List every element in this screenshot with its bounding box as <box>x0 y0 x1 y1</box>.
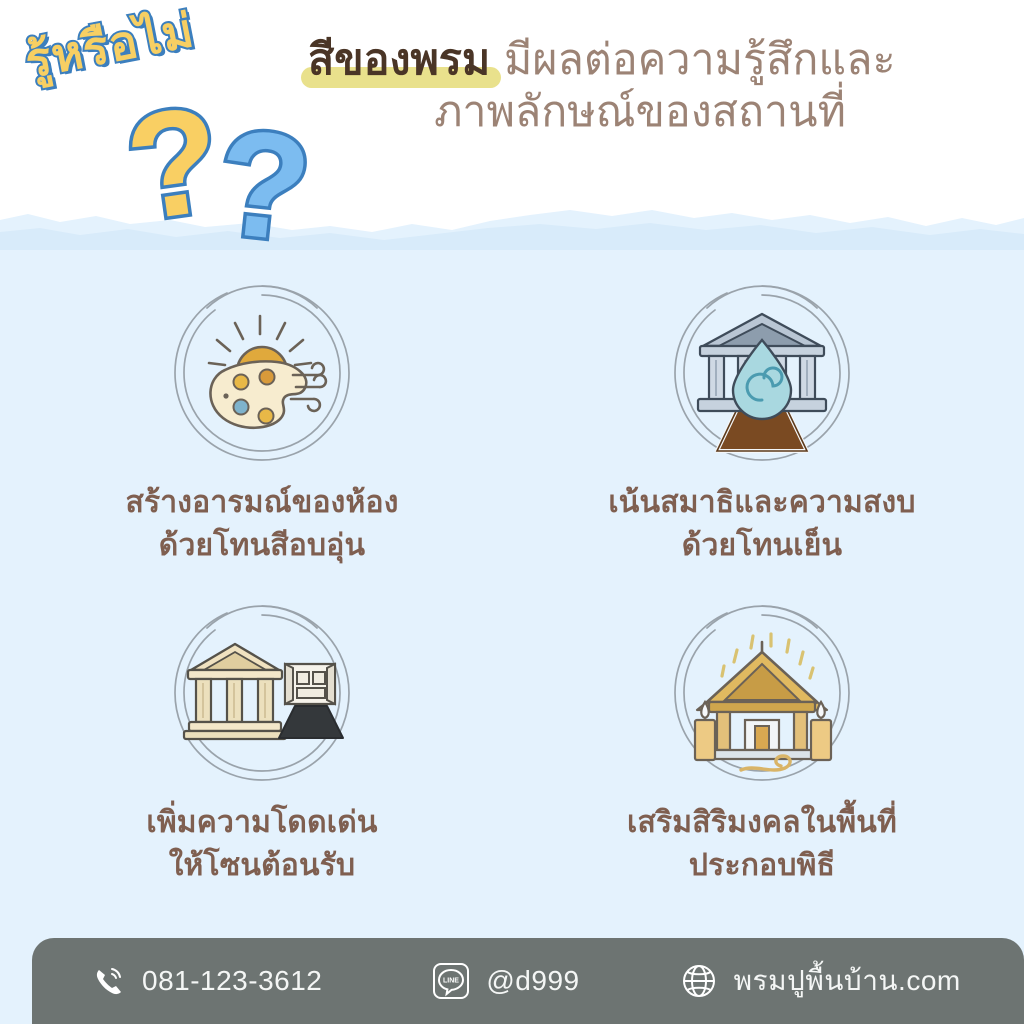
feature-card-1-caption: สร้างอารมณ์ของห้อง ด้วยโทนสีอบอุ่น <box>32 482 492 567</box>
headline-line-1-rest: มีผลต่อความรู้สึกและ <box>493 37 895 84</box>
headline-line-1: สีของพรม มีผลต่อความรู้สึกและ <box>300 34 1000 87</box>
feature-card-2-caption-line-2: ด้วยโทนเย็น <box>532 525 992 568</box>
headline-line-2-text: ภาพลักษณ์ของสถานที่ <box>434 89 846 136</box>
line-app-icon: LINE <box>432 962 470 1000</box>
feature-card-1-caption-line-1: สร้างอารมณ์ของห้อง <box>32 482 492 525</box>
globe-icon <box>680 962 718 1000</box>
did-you-know-badge: รู้หรือไม่ ? ? <box>18 10 308 250</box>
feature-card-1: สร้างอารมณ์ของห้อง ด้วยโทนสีอบอุ่น <box>32 278 492 567</box>
feature-card-1-caption-line-2: ด้วยโทนสีอบอุ่น <box>32 525 492 568</box>
headline-line-2: ภาพลักษณ์ของสถานที่ <box>300 87 1000 139</box>
palette-sun-wind-icon <box>167 278 357 468</box>
header-band: รู้หรือไม่ ? ? สีของพรม มีผลต่อความรู้สึ… <box>0 0 1024 250</box>
feature-card-4-caption-line-2: ประกอบพิธี <box>532 845 992 888</box>
headline-highlight: สีของพรม <box>305 34 493 86</box>
contact-website[interactable]: พรมปูพื้นบ้าน.com <box>680 959 961 1003</box>
contact-line[interactable]: LINE @d999 <box>432 962 579 1000</box>
question-mark-yellow-icon: ? <box>118 82 230 243</box>
contact-phone[interactable]: 081-123-3612 <box>90 963 322 999</box>
feature-card-4-caption: เสริมสิริมงคลในพื้นที่ ประกอบพิธี <box>532 802 992 887</box>
feature-card-3: เพิ่มความโดดเด่น ให้โซนต้อนรับ <box>32 598 492 887</box>
museum-redcarpet-icon <box>167 598 357 788</box>
feature-grid: สร้างอารมณ์ของห้อง ด้วยโทนสีอบอุ่น <box>0 268 1024 928</box>
feature-card-3-caption: เพิ่มความโดดเด่น ให้โซนต้อนรับ <box>32 802 492 887</box>
shrine-candles-icon <box>667 598 857 788</box>
website-url: พรมปูพื้นบ้าน.com <box>734 959 961 1003</box>
line-id: @d999 <box>486 965 579 997</box>
feature-card-2-caption: เน้นสมาธิและความสงบ ด้วยโทนเย็น <box>532 482 992 567</box>
contact-footer: 081-123-3612 LINE @d999 พรมปูพื <box>32 938 1024 1024</box>
phone-number: 081-123-3612 <box>142 965 322 997</box>
feature-card-4: เสริมสิริมงคลในพื้นที่ ประกอบพิธี <box>532 598 992 887</box>
phone-ringing-icon <box>90 963 126 999</box>
feature-card-3-caption-line-2: ให้โซนต้อนรับ <box>32 845 492 888</box>
feature-card-4-caption-line-1: เสริมสิริมงคลในพื้นที่ <box>532 802 992 845</box>
headline: สีของพรม มีผลต่อความรู้สึกและ ภาพลักษณ์ข… <box>300 34 1000 140</box>
feature-card-2: เน้นสมาธิและความสงบ ด้วยโทนเย็น <box>532 278 992 567</box>
temple-waterdrop-icon <box>667 278 857 468</box>
svg-text:LINE: LINE <box>443 978 459 985</box>
feature-card-2-caption-line-1: เน้นสมาธิและความสงบ <box>532 482 992 525</box>
feature-card-3-caption-line-1: เพิ่มความโดดเด่น <box>32 802 492 845</box>
